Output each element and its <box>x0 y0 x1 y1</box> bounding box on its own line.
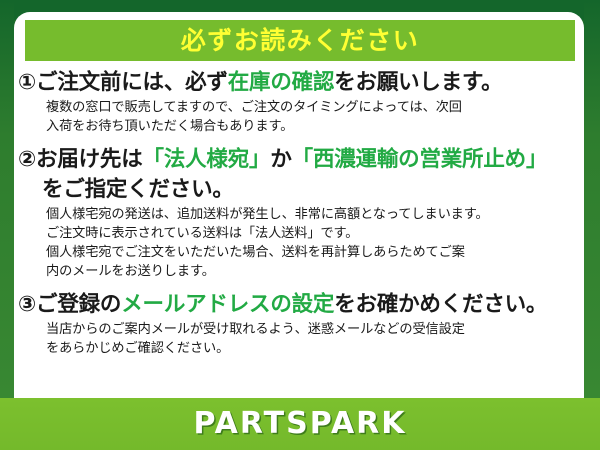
frame-right-border <box>584 0 600 450</box>
notice-heading-line2: をご指定ください。 <box>18 175 580 205</box>
notice-heading: ①ご注文前には、必ず在庫の確認をお願いします。 <box>18 68 580 98</box>
notice-marker: ③ <box>18 292 36 317</box>
notice-marker: ② <box>18 147 36 172</box>
notice-heading-emphasis: メールアドレスの設定 <box>121 292 334 317</box>
notice-sub-line: 入荷をお待ち頂いただく場合もあります。 <box>18 117 580 136</box>
notice-list: ①ご注文前には、必ず在庫の確認をお願いします。複数の窓口で販売してますので、ご注… <box>14 68 586 358</box>
notice-marker: ① <box>18 70 36 95</box>
notice-heading-emphasis: 「西濃運輸の営業所止め」 <box>292 147 548 172</box>
notice-item: ③ご登録のメールアドレスの設定をお確かめください。当店からのご案内メールが受け取… <box>14 290 586 358</box>
notice-sub-line: ご注文時に表示されている送料は「法人送料」です。 <box>18 224 580 243</box>
notice-heading-text: ご注文前には、必ず <box>36 70 228 95</box>
notice-banner: 必ずお読みください ①ご注文前には、必ず在庫の確認をお願いします。複数の窓口で販… <box>0 0 600 450</box>
notice-sub-line: 当店からのご案内メールが受け取れるよう、迷惑メールなどの受信設定 <box>18 320 580 339</box>
notice-sub-line: 複数の窓口で販売してますので、ご注文のタイミングによっては、次回 <box>18 98 580 117</box>
brand-logo: PARTSPARK <box>193 409 406 439</box>
frame-left-border <box>0 0 14 450</box>
notice-heading-text: をお願いします。 <box>334 70 502 95</box>
notice-item: ②お届け先は「法人様宛」か「西濃運輸の営業所止め」をご指定ください。個人様宅宛の… <box>14 145 586 281</box>
notice-sub-line: をあらかじめご確認ください。 <box>18 339 580 358</box>
notice-heading: ③ご登録のメールアドレスの設定をお確かめください。 <box>18 290 580 320</box>
notice-heading-emphasis: 「法人様宛」 <box>143 147 271 172</box>
notice-item: ①ご注文前には、必ず在庫の確認をお願いします。複数の窓口で販売してますので、ご注… <box>14 68 586 136</box>
notice-heading: ②お届け先は「法人様宛」か「西濃運輸の営業所止め」 <box>18 145 580 175</box>
notice-sub-line: 個人様宅宛の発送は、追加送料が発生し、非常に高額となってしまいます。 <box>18 205 580 224</box>
notice-heading-emphasis: 在庫の確認 <box>228 70 335 95</box>
header-title: 必ずお読みください <box>181 28 420 53</box>
header-title-bar: 必ずお読みください <box>25 20 575 61</box>
footer-bar: PARTSPARK <box>0 398 600 450</box>
notice-heading-text: をお確かめください。 <box>334 292 547 317</box>
notice-spacer <box>14 281 586 290</box>
notice-spacer <box>14 136 586 145</box>
notice-sub-line: 個人様宅宛でご注文をいただいた場合、送料を再計算しあらためてご案 <box>18 243 580 262</box>
notice-sub-line: 内のメールをお送りします。 <box>18 262 580 281</box>
notice-heading-text: か <box>270 147 291 172</box>
notice-heading-text: ご登録の <box>36 292 121 317</box>
notice-heading-text: お届け先は <box>36 147 143 172</box>
